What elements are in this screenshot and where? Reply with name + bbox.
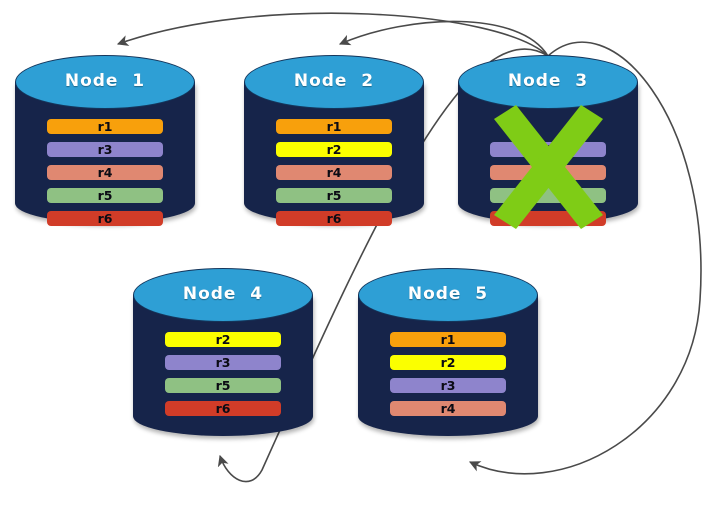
node-2-replica-bar[interactable]: r1 (276, 119, 392, 134)
node-4-label: Node 4 (133, 284, 313, 304)
node-1-replica-bar[interactable]: r6 (47, 211, 163, 226)
node-5-replica-bar[interactable]: r2 (390, 355, 506, 370)
node-2-replica-bar[interactable]: r2 (276, 142, 392, 157)
node-1[interactable]: Node 1r1r3r4r5r6 (15, 55, 195, 235)
node-1-replica-bar[interactable]: r1 (47, 119, 163, 134)
node-1-replica-bar[interactable]: r4 (47, 165, 163, 180)
node-5-replica-bar[interactable]: r1 (390, 332, 506, 347)
node-4-replica-bar[interactable]: r2 (165, 332, 281, 347)
node-1-label: Node 1 (15, 71, 195, 91)
node-2-replica-bar[interactable]: r4 (276, 165, 392, 180)
node-3-replica-bar[interactable] (490, 211, 606, 226)
arrow-to-node-1 (118, 13, 548, 56)
node-1-replica-bar[interactable]: r5 (47, 188, 163, 203)
node-2-replica-bar[interactable]: r5 (276, 188, 392, 203)
node-3-replica-bar[interactable]: r3 (490, 142, 606, 157)
node-5[interactable]: Node 5r1r2r3r4 (358, 268, 538, 448)
node-4-replica-bar[interactable]: r6 (165, 401, 281, 416)
node-5-replica-bar[interactable]: r3 (390, 378, 506, 393)
node-2[interactable]: Node 2r1r2r4r5r6 (244, 55, 424, 235)
node-1-replica-bar[interactable]: r3 (47, 142, 163, 157)
node-2-label: Node 2 (244, 71, 424, 91)
node-3[interactable]: Node 3r3 (458, 55, 638, 235)
node-5-replica-bar[interactable]: r4 (390, 401, 506, 416)
node-4-replica-bar[interactable]: r5 (165, 378, 281, 393)
node-4[interactable]: Node 4r2r3r5r6 (133, 268, 313, 448)
node-2-replica-bar[interactable]: r6 (276, 211, 392, 226)
node-4-replica-bar[interactable]: r3 (165, 355, 281, 370)
diagram-canvas: Node 1r1r3r4r5r6Node 2r1r2r4r5r6Node 3r3… (0, 0, 708, 508)
node-3-replica-bar[interactable] (490, 165, 606, 180)
node-3-label: Node 3 (458, 71, 638, 91)
node-5-label: Node 5 (358, 284, 538, 304)
node-3-replica-bar[interactable] (490, 188, 606, 203)
